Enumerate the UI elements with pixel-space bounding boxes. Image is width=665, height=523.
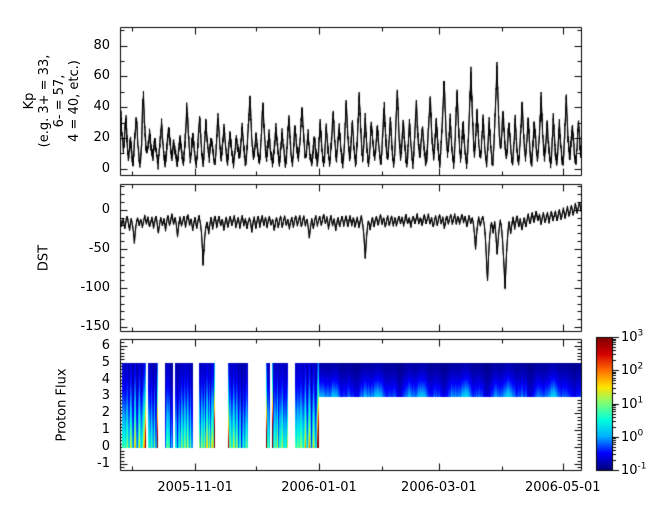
proton-flux-ytick-5: 5 [102, 356, 110, 370]
dst-ytick-neg100: -100 [80, 281, 110, 295]
colorbar-tick-0: 100 [621, 428, 643, 444]
figure-root: Kp(e.g. 3+ = 33,6- = 57,4 = 40, etc.) DS… [0, 0, 665, 523]
proton-flux-ytick-6: 6 [102, 339, 110, 353]
kp-ytick-0: 0 [102, 162, 110, 176]
xtick-2006-01-01: 2006-01-01 [281, 481, 357, 495]
dst-ytick-0: 0 [102, 203, 110, 217]
dst-ytick-neg150: -150 [80, 320, 110, 334]
proton-flux-ytick-1: 1 [102, 423, 110, 437]
kp-ytick-40: 40 [93, 100, 110, 114]
dst-y-axis-label: DST [37, 158, 52, 358]
proton-flux-ytick-0: 0 [102, 440, 110, 454]
xtick-2005-11-01: 2005-11-01 [157, 481, 233, 495]
proton-flux-ytick-4: 4 [102, 373, 110, 387]
proton-flux-ytick-3: 3 [102, 390, 110, 404]
kp-y-axis-label: Kp(e.g. 3+ = 33,6- = 57,4 = 40, etc.) [22, 1, 82, 201]
xtick-2006-05-01: 2006-05-01 [525, 481, 601, 495]
colorbar-tick-1: 101 [621, 395, 643, 411]
proton-flux-ytick-2: 2 [102, 407, 110, 421]
kp-ytick-60: 60 [93, 70, 110, 84]
dst-ytick-neg50: -50 [89, 242, 110, 256]
colorbar-tick-neg1: 10-1 [621, 462, 647, 478]
kp-ytick-80: 80 [93, 39, 110, 53]
proton-flux-ytick-neg1: -1 [97, 457, 110, 471]
colorbar-tick-3: 103 [621, 329, 643, 345]
colorbar-tick-2: 102 [621, 362, 643, 378]
kp-ytick-20: 20 [93, 131, 110, 145]
xtick-2006-03-01: 2006-03-01 [401, 481, 477, 495]
proton-flux-y-axis-label: Proton Flux [55, 305, 70, 505]
